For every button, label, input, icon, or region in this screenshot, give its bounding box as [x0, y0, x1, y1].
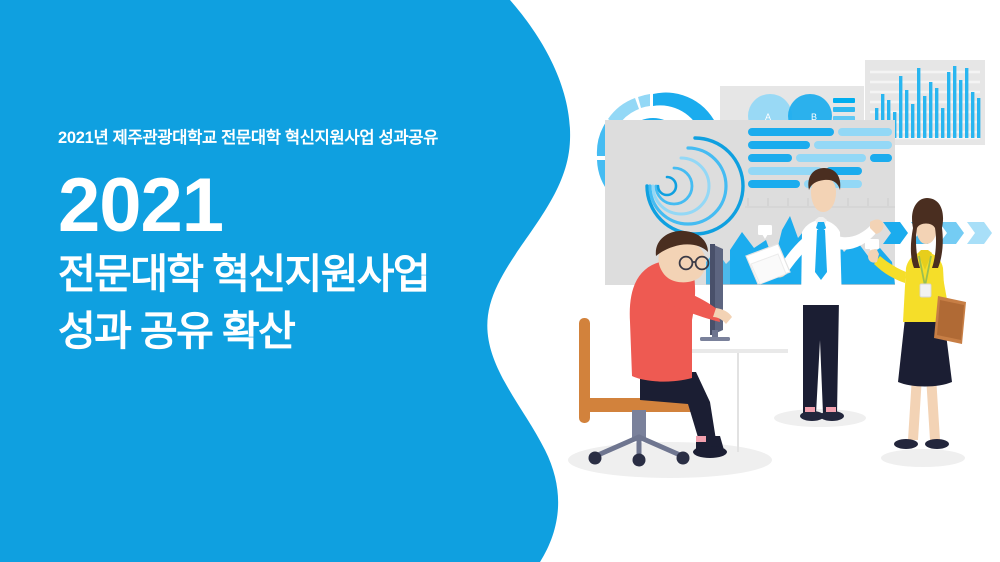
headline-line-2: 성과 공유 확산 [58, 308, 498, 355]
headline-line-1: 전문대학 혁신지원사업 [58, 251, 498, 298]
year-display: 2021 [58, 171, 498, 241]
slide-root: 2021년 제주관광대학교 전문대학 혁신지원사업 성과공유 2021 전문대학… [0, 0, 1000, 562]
folder-icon [934, 296, 966, 344]
title-text-block: 2021년 제주관광대학교 전문대학 혁신지원사업 성과공유 2021 전문대학… [58, 128, 498, 355]
business-analytics-illustration: A B C [520, 0, 1000, 562]
subtitle: 2021년 제주관광대학교 전문대학 혁신지원사업 성과공유 [58, 128, 498, 149]
